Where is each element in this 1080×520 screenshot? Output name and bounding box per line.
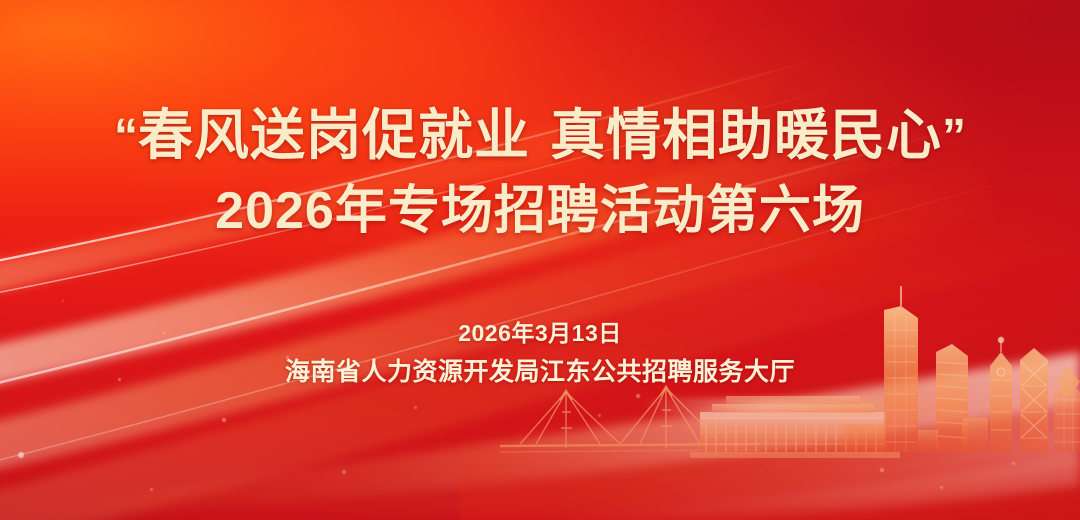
headline-slogan: “春风送岗促就业真情相助暖民心” — [0, 102, 1080, 170]
event-venue: 海南省人力资源开发局江东公共招聘服务大厅 — [0, 357, 1080, 387]
recruitment-banner: “春风送岗促就业真情相助暖民心” 2026年专场招聘活动第六场 2026年3月1… — [0, 0, 1080, 520]
open-quote: “ — [114, 110, 138, 163]
subheadline-title: 2026年专场招聘活动第六场 — [0, 180, 1080, 242]
headline-phrase-left: 春风送岗促就业 — [138, 104, 530, 166]
banner-content: “春风送岗促就业真情相助暖民心” 2026年专场招聘活动第六场 2026年3月1… — [0, 0, 1080, 520]
event-date: 2026年3月13日 — [0, 319, 1080, 347]
close-quote: ” — [942, 110, 966, 163]
headline-phrase-right: 真情相助暖民心 — [550, 104, 942, 166]
